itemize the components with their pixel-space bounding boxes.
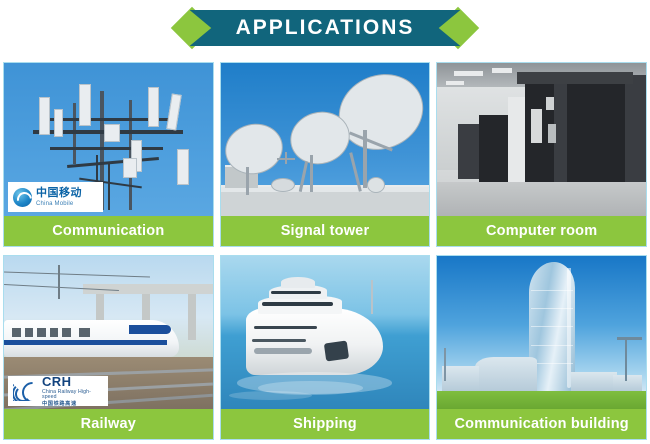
satellite-dish-illustration [221, 63, 430, 216]
page-title: APPLICATIONS [236, 16, 415, 40]
application-card-communication-building[interactable]: Communication building [436, 255, 647, 440]
crh-mark-icon [13, 381, 39, 401]
china-mobile-logo-text: 中国移动 China Mobile [36, 188, 82, 207]
china-mobile-name-en: China Mobile [36, 201, 82, 207]
card-label-shipping: Shipping [221, 409, 430, 439]
crh-name-en: China Railway High-speed [42, 390, 103, 400]
application-card-computer-room[interactable]: Computer room [436, 62, 647, 247]
card-label-communication-building: Communication building [437, 409, 646, 439]
china-mobile-name-cn: 中国移动 [36, 188, 82, 199]
photo-railway: CRH China Railway High-speed 中国铁路高速 [4, 256, 213, 409]
crh-name-cn: 中国铁路高速 [42, 402, 103, 407]
banner-inner: APPLICATIONS [177, 6, 474, 50]
crh-name-main: CRH [42, 375, 103, 388]
card-label-communication: Communication [4, 216, 213, 246]
photo-computer-room [437, 63, 646, 216]
photo-cruise-ship [221, 256, 430, 409]
photo-communication-building [437, 256, 646, 409]
application-card-communication[interactable]: 中国移动 China Mobile Communication [3, 62, 214, 247]
photo-cell-tower: 中国移动 China Mobile [4, 63, 213, 216]
card-label-computer-room: Computer room [437, 216, 646, 246]
applications-grid: 中国移动 China Mobile Communication [3, 62, 647, 440]
applications-showcase-page: APPLICATIONS [0, 0, 650, 444]
cruise-ship-illustration [221, 256, 430, 409]
china-mobile-mark-icon [13, 188, 32, 207]
application-card-signal-tower[interactable]: Signal tower [220, 62, 431, 247]
banner-ribbon: APPLICATIONS [190, 10, 461, 46]
card-label-railway: Railway [4, 409, 213, 439]
section-header-banner: APPLICATIONS [0, 6, 650, 50]
crh-logo: CRH China Railway High-speed 中国铁路高速 [8, 376, 108, 406]
data-center-illustration [437, 63, 646, 216]
skyscraper-illustration [437, 256, 646, 409]
crh-logo-text: CRH China Railway High-speed 中国铁路高速 [42, 375, 103, 407]
application-card-shipping[interactable]: Shipping [220, 255, 431, 440]
card-label-signal-tower: Signal tower [221, 216, 430, 246]
china-mobile-logo: 中国移动 China Mobile [8, 182, 103, 212]
photo-satellite-dishes [221, 63, 430, 216]
application-card-railway[interactable]: CRH China Railway High-speed 中国铁路高速 Rail… [3, 255, 214, 440]
